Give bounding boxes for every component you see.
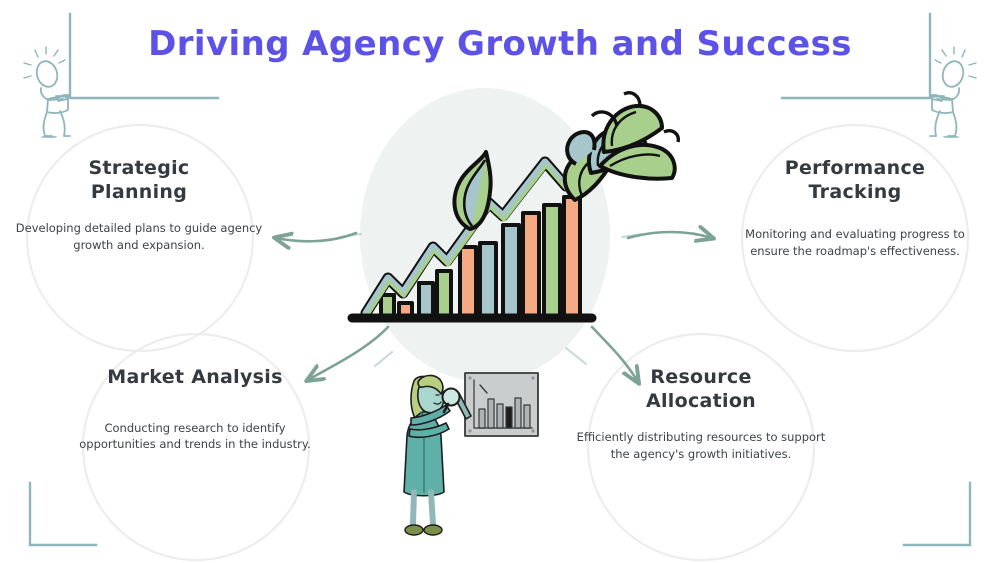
- infographic-canvas: Driving Agency Growth and Success Strate…: [0, 0, 1000, 563]
- node-description: Efficiently distributing resources to su…: [570, 429, 832, 462]
- arrow-to-strategic-planning: [276, 233, 356, 241]
- chart-bar: [437, 271, 451, 317]
- chart-bar: [503, 225, 519, 317]
- hair: [411, 376, 436, 424]
- node-market-analysis[interactable]: Market Analysis Conducting research to i…: [66, 366, 324, 453]
- rising-trend-arrow-fill-blue: [366, 150, 595, 313]
- head: [418, 378, 444, 413]
- chart-bar: [381, 295, 394, 317]
- bracket-bottom-right: [904, 483, 970, 545]
- bar-chart-board: [465, 373, 538, 436]
- dress: [404, 412, 444, 496]
- chart-bar: [564, 197, 580, 317]
- growth-chart-with-plant: [0, 0, 1000, 563]
- node-description: Conducting research to identify opportun…: [66, 420, 324, 453]
- node-title: Performance Tracking: [724, 157, 986, 204]
- node-title-line1: Strategic: [10, 157, 268, 181]
- node-title-line2: Tracking: [724, 181, 986, 205]
- magnifying-glass: [443, 389, 460, 413]
- hair-front: [418, 375, 443, 394]
- node-resource-allocation[interactable]: Resource Allocation Efficiently distribu…: [570, 366, 832, 462]
- node-title-line1: Resource: [570, 366, 832, 390]
- node-title-line2: Planning: [10, 181, 268, 205]
- pointer-stick: [454, 393, 471, 419]
- node-description: Developing detailed plans to guide agenc…: [10, 220, 268, 253]
- rising-trend-arrow-shadow: [366, 150, 595, 313]
- node-title-line2: Allocation: [570, 390, 832, 414]
- sprouting-leaves: [565, 93, 679, 200]
- sprouting-leaf-small: [454, 152, 490, 229]
- bracket-bottom-left: [30, 483, 96, 545]
- node-description: Monitoring and evaluating progress to en…: [724, 226, 986, 259]
- sparkle-ticks: [341, 234, 642, 366]
- node-title: Resource Allocation: [570, 366, 832, 413]
- rising-trend-arrow-fill-green: [367, 154, 596, 316]
- arrow-to-performance-tracking: [628, 232, 712, 238]
- chart-bar: [419, 283, 433, 317]
- chart-bar: [460, 247, 476, 317]
- legs: [412, 492, 433, 524]
- center-backdrop-blob: [360, 88, 610, 382]
- page-title: Driving Agency Growth and Success: [0, 24, 1000, 64]
- node-title: Market Analysis: [66, 366, 324, 390]
- chart-bar: [544, 205, 560, 317]
- arm-lower: [409, 423, 449, 437]
- node-performance-tracking[interactable]: Performance Tracking Monitoring and eval…: [724, 157, 986, 259]
- arm-upper: [411, 405, 450, 425]
- chart-bar: [523, 213, 539, 317]
- node-title: Strategic Planning: [10, 157, 268, 204]
- node-strategic-planning[interactable]: Strategic Planning Developing detailed p…: [10, 157, 268, 253]
- node-title-line1: Market Analysis: [66, 366, 324, 390]
- shoes: [405, 525, 442, 535]
- background-decor-layer: [0, 0, 1000, 563]
- analyst-with-magnifier: [0, 0, 1000, 563]
- chart-bar: [480, 243, 496, 317]
- node-title-line1: Performance: [724, 157, 986, 181]
- chart-bar: [399, 303, 412, 317]
